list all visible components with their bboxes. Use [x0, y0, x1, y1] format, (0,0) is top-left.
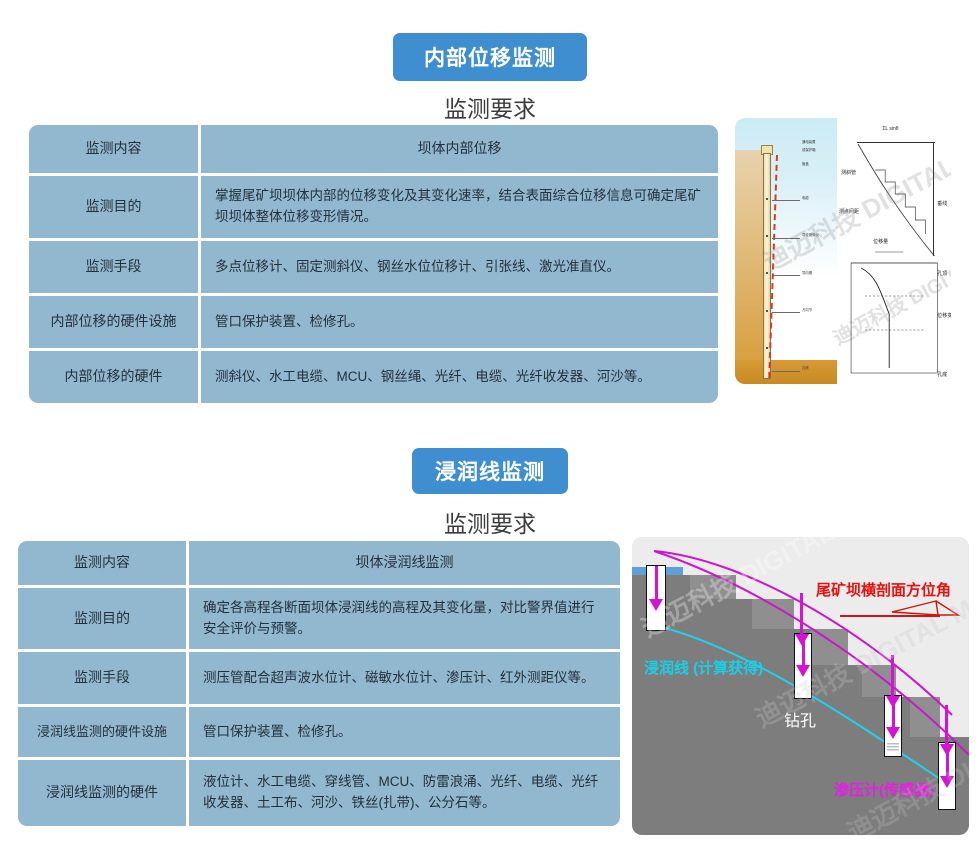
- section-title-2: 监测要求: [390, 505, 590, 539]
- row-value: 多点位移计、固定测斜仪、钢丝水位位移计、引张线、激光准直仪。: [201, 241, 718, 293]
- section-badge-phreatic-line[interactable]: 浸润线监测: [412, 448, 568, 494]
- table-row: 监测目的 确定各高程各断面坝体浸润线的高程及其变化量，对比警界值进行安全评价与预…: [18, 588, 620, 649]
- row-label: 浸润线监测的硬件设施: [18, 707, 186, 757]
- row-value: 测压管配合超声波水位计、磁敏水位计、渗压计、红外测距仪等。: [189, 652, 620, 704]
- table-row: 监测手段 测压管配合超声波水位计、磁敏水位计、渗压计、红外测距仪等。: [18, 652, 620, 704]
- piezometer-arrow-stem: [891, 655, 894, 697]
- inclinometer-curve-svg: [837, 118, 951, 384]
- monitoring-requirements-table-2: 监测内容 坝体浸润线监测 监测目的 确定各高程各断面坝体浸润线的高程及其变化量，…: [18, 541, 620, 826]
- callout-label: 孔底: [937, 371, 947, 378]
- table-row: 浸润线监测的硬件 液位计、水工电缆、穿线管、MCU、防雷浪涌、光纤、电缆、光纤收…: [18, 760, 620, 826]
- callout-label: 测斜管: [841, 169, 856, 176]
- row-label: 监测目的: [29, 176, 198, 238]
- row-label: 监测目的: [18, 588, 186, 649]
- row-label: 监测手段: [18, 652, 186, 704]
- row-value: 掌握尾矿坝坝体内部的位移变化及其变化速率，结合表面综合位移信息可确定尾矿坝坝体整…: [201, 176, 718, 238]
- monitoring-requirements-table-1: 监测内容 坝体内部位移 监测目的 掌握尾矿坝坝体内部的位移变化及其变化速率，结合…: [29, 125, 718, 403]
- leader-line: [772, 371, 800, 372]
- table-row: 内部位移的硬件设施 管口保护装置、检修孔。: [29, 296, 718, 348]
- section-badge-internal-displacement[interactable]: 内部位移监测: [393, 33, 587, 81]
- leader-line: [772, 275, 800, 276]
- callout-label: 导向槽: [802, 270, 812, 275]
- row-value: 管口保护装置、检修孔。: [189, 707, 620, 757]
- azimuth-arrow-icon: [890, 599, 960, 625]
- row-value: 确定各高程各断面坝体浸润线的高程及其变化量，对比警界值进行安全评价与预警。: [189, 588, 620, 649]
- row-label: 内部位移的硬件设施: [29, 296, 198, 348]
- borehole-tube: [646, 565, 666, 631]
- phreatic-line-figure: 浸润线 (计算获得) 钻孔 渗压计(传感器) 尾矿坝横剖面方位角 迪迈科技 DI…: [632, 537, 969, 835]
- table-row: 内部位移的硬件 测斜仪、水工电缆、MCU、钢丝绳、光纤、电缆、光纤收发器、河沙等…: [29, 351, 718, 403]
- piezometer-label: 渗压计(传感器): [834, 779, 934, 800]
- row-label: 监测内容: [29, 125, 198, 173]
- phreatic-line-label: 浸润线 (计算获得): [644, 657, 763, 678]
- leader-line: [772, 312, 800, 313]
- piezometer-arrow-icon: [655, 566, 658, 600]
- deflection-charts-panel: ΣL sinθ 测斜管 测点间距 垂线 位移量 孔顶 位移变化区域 孔底: [837, 118, 951, 384]
- table-row: 监测内容 坝体内部位移: [29, 125, 718, 173]
- leader-line: [772, 238, 800, 239]
- row-label: 监测手段: [29, 241, 198, 293]
- table-row: 浸润线监测的硬件设施 管口保护装置、检修孔。: [18, 707, 620, 757]
- callout-label: 孔顶: [937, 270, 947, 277]
- callout-label: 垂线: [937, 200, 947, 207]
- piezometer-arrow-stem: [945, 705, 948, 745]
- row-value: 液位计、水工电缆、穿线管、MCU、防雷浪涌、光纤、电缆、光纤收发器、土工布、河沙…: [189, 760, 620, 826]
- poster-page: 内部位移监测 监测要求 监测内容 坝体内部位移 监测目的 掌握尾矿坝坝体内部的位…: [0, 0, 980, 852]
- piezometer-sensor: [887, 743, 899, 753]
- row-value: 测斜仪、水工电缆、MCU、钢丝绳、光纤、电缆、光纤收发器、河沙等。: [201, 351, 718, 403]
- callout-label: 管盖: [802, 161, 809, 166]
- table-row: 监测目的 掌握尾矿坝坝体内部的位移变化及其变化速率，结合表面综合位移信息可确定尾…: [29, 176, 718, 238]
- row-label: 监测内容: [18, 541, 186, 585]
- borehole-label: 钻孔: [784, 707, 816, 731]
- azimuth-label: 尾矿坝横剖面方位角: [816, 579, 951, 600]
- callout-label: 测点间距: [839, 208, 859, 215]
- callout-label: 位移变化区域: [937, 312, 951, 319]
- callout-label: 导轮测斜仪: [802, 232, 819, 237]
- inclinometer-borehole-figure: 通电装置 或保护箱 管盖 电缆 导轮测斜仪 导向槽 万向节 孔底 ΣL sinθ: [735, 118, 951, 384]
- callout-label: 位移量: [873, 238, 888, 245]
- callout-label: 万向节: [802, 307, 812, 312]
- foundation-layer: [735, 360, 837, 384]
- leader-line: [772, 200, 800, 201]
- callout-label: 或保护箱: [802, 147, 816, 152]
- piezometer-arrow-stem: [800, 593, 803, 635]
- row-value: 坝体内部位移: [201, 125, 718, 173]
- callout-label: 孔底: [802, 365, 809, 370]
- row-value: 坝体浸润线监测: [189, 541, 620, 585]
- row-label: 浸润线监测的硬件: [18, 760, 186, 826]
- borehole-section-panel: 通电装置 或保护箱 管盖 电缆 导轮测斜仪 导向槽 万向节 孔底: [735, 118, 837, 384]
- row-label: 内部位移的硬件: [29, 351, 198, 403]
- callout-label: 电缆: [802, 195, 809, 200]
- row-value: 管口保护装置、检修孔。: [201, 296, 718, 348]
- table-row: 监测手段 多点位移计、固定测斜仪、钢丝水位位移计、引张线、激光准直仪。: [29, 241, 718, 293]
- section-title-1: 监测要求: [390, 90, 590, 124]
- callout-label: 通电装置: [802, 139, 816, 144]
- table-row: 监测内容 坝体浸润线监测: [18, 541, 620, 585]
